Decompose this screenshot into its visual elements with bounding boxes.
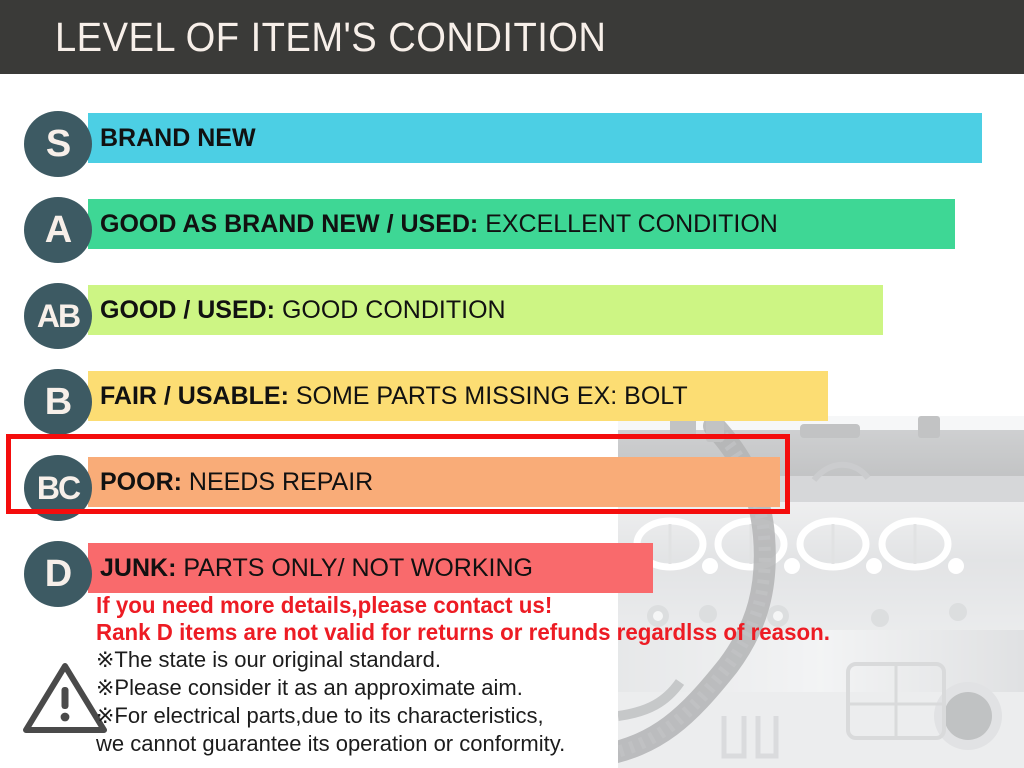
rank-badge-b: B xyxy=(24,369,92,435)
note-red-line-2: Rank D items are not valid for returns o… xyxy=(96,619,979,646)
notes-block: If you need more details,please contact … xyxy=(96,592,1006,758)
condition-row-a: GOOD AS BRAND NEW / USED: EXCELLENT COND… xyxy=(0,194,1024,264)
condition-label-regular-a: EXCELLENT CONDITION xyxy=(485,210,778,238)
note-dark-line-3: ※For electrical parts,due to its charact… xyxy=(96,702,1006,730)
rank-badge-d: D xyxy=(24,541,92,607)
condition-grading-chart: LEVEL OF ITEM'S CONDITION BRAND NEW S GO… xyxy=(0,0,1024,768)
condition-label-bold-a: GOOD AS BRAND NEW / USED: xyxy=(100,210,478,238)
note-dark-line-2: ※Please consider it as an approximate ai… xyxy=(96,674,1006,702)
condition-row-ab: GOOD / USED: GOOD CONDITION AB xyxy=(0,280,1024,350)
condition-label-bold-ab: GOOD / USED: xyxy=(100,296,275,324)
condition-label-bc: POOR: NEEDS REPAIR xyxy=(100,457,373,507)
note-dark-line-1: ※The state is our original standard. xyxy=(96,646,1006,674)
condition-label-s: BRAND NEW xyxy=(100,113,256,163)
rank-badge-bc: BC xyxy=(24,455,92,521)
rank-badge-a: A xyxy=(24,197,92,263)
condition-label-bold-d: JUNK: xyxy=(100,554,176,582)
page-title: LEVEL OF ITEM'S CONDITION xyxy=(55,15,606,59)
condition-label-regular-d: PARTS ONLY/ NOT WORKING xyxy=(183,554,533,582)
condition-label-ab: GOOD / USED: GOOD CONDITION xyxy=(100,285,506,335)
condition-label-regular-b: SOME PARTS MISSING EX: BOLT xyxy=(296,382,688,410)
condition-label-regular-ab: GOOD CONDITION xyxy=(282,296,506,324)
note-dark-line-4: we cannot guarantee its operation or con… xyxy=(96,730,1006,758)
note-red-line-1: If you need more details,please contact … xyxy=(96,592,979,619)
condition-label-a: GOOD AS BRAND NEW / USED: EXCELLENT COND… xyxy=(100,199,778,249)
rank-badge-ab: AB xyxy=(24,283,92,349)
condition-row-b: FAIR / USABLE: SOME PARTS MISSING EX: BO… xyxy=(0,366,1024,436)
condition-label-bold-s: BRAND NEW xyxy=(100,124,256,152)
condition-label-b: FAIR / USABLE: SOME PARTS MISSING EX: BO… xyxy=(100,371,688,421)
condition-row-s: BRAND NEW S xyxy=(0,108,1024,178)
condition-label-regular-bc: NEEDS REPAIR xyxy=(189,468,373,496)
header-bar: LEVEL OF ITEM'S CONDITION xyxy=(0,0,1024,74)
condition-label-bold-bc: POOR: xyxy=(100,468,182,496)
condition-label-bold-b: FAIR / USABLE: xyxy=(100,382,289,410)
condition-label-d: JUNK: PARTS ONLY/ NOT WORKING xyxy=(100,543,533,593)
rank-badge-s: S xyxy=(24,111,92,177)
condition-row-bc: POOR: NEEDS REPAIR BC xyxy=(0,452,1024,522)
